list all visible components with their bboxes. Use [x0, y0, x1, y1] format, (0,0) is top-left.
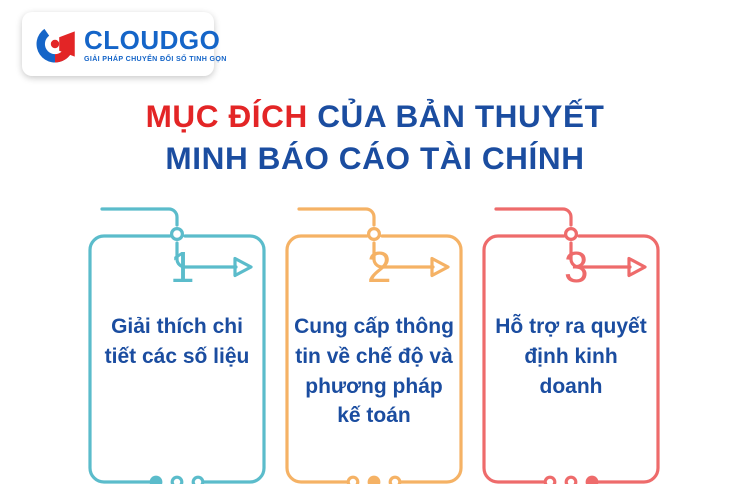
card-connector-node: [566, 229, 577, 240]
card-text-3: Hỗ trợ ra quyết định kinh doanh: [490, 312, 652, 401]
purpose-cards-row: 1 Giải thích chi tiết các số liệu 2 Cung…: [0, 206, 750, 491]
card-number-1: 1: [170, 246, 194, 290]
card-number-3: 3: [564, 246, 588, 290]
card-dot-hollow: [545, 477, 555, 484]
card-connector-node: [369, 229, 380, 240]
purpose-card-3[interactable]: 3 Hỗ trợ ra quyết định kinh doanh: [482, 234, 660, 484]
card-text-1: Giải thích chi tiết các số liệu: [96, 312, 258, 372]
purpose-card-1[interactable]: 1 Giải thích chi tiết các số liệu: [88, 234, 266, 484]
brand-text-block: CLOUDGO GIẢI PHÁP CHUYỂN ĐỔI SỐ TINH GỌN: [84, 25, 227, 63]
page-title-line-2: MINH BÁO CÁO TÀI CHÍNH: [0, 138, 750, 180]
card-dot-filled: [369, 477, 379, 484]
card-dot-hollow: [348, 477, 358, 484]
page-title-highlight: MỤC ĐÍCH: [146, 98, 308, 134]
brand-wordmark: CLOUDGO: [84, 27, 227, 53]
card-dot-hollow: [390, 477, 400, 484]
page-title-line-1-rest: CỦA BẢN THUYẾT: [308, 98, 605, 134]
page-title-line-1: MỤC ĐÍCH CỦA BẢN THUYẾT: [0, 96, 750, 138]
page-title: MỤC ĐÍCH CỦA BẢN THUYẾT MINH BÁO CÁO TÀI…: [0, 96, 750, 179]
card-dot-hollow: [172, 477, 182, 484]
card-dot-hollow: [566, 477, 576, 484]
card-dot-filled: [587, 477, 597, 484]
card-dot-filled: [151, 477, 161, 484]
card-connector-node: [172, 229, 183, 240]
card-text-2: Cung cấp thông tin về chế độ và phương p…: [293, 312, 455, 431]
purpose-card-2[interactable]: 2 Cung cấp thông tin về chế độ và phương…: [285, 234, 463, 484]
cloudgo-circle-logo-icon: [34, 23, 76, 65]
brand-tagline: GIẢI PHÁP CHUYỂN ĐỔI SỐ TINH GỌN: [84, 56, 227, 63]
brand-logo-badge: CLOUDGO GIẢI PHÁP CHUYỂN ĐỔI SỐ TINH GỌN: [22, 12, 214, 76]
card-dot-hollow: [193, 477, 203, 484]
card-number-2: 2: [367, 246, 391, 290]
